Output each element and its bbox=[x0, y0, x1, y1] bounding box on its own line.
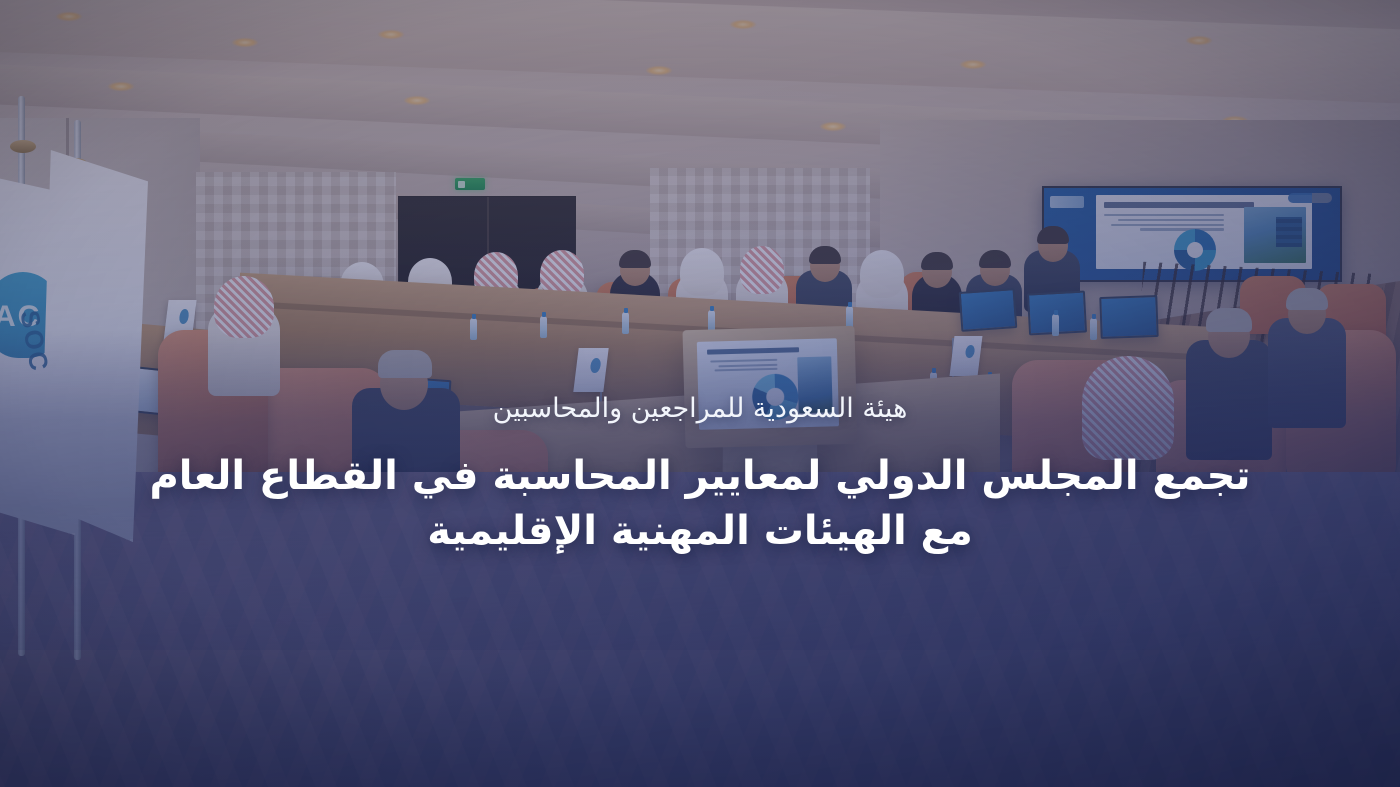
headline-line-2: مع الهيئات المهنية الإقليمية bbox=[80, 504, 1320, 559]
banner-eyebrow: هيئة السعودية للمراجعين والمحاسبين bbox=[80, 392, 1320, 427]
hero-banner: AC SOC هيئة السعودية للمراجعين والمحاسبي… bbox=[0, 0, 1400, 787]
banner-headline: تجمع المجلس الدولي لمعايير المحاسبة في ا… bbox=[80, 449, 1320, 559]
headline-line-1: تجمع المجلس الدولي لمعايير المحاسبة في ا… bbox=[80, 449, 1320, 504]
banner-text-block: هيئة السعودية للمراجعين والمحاسبين تجمع … bbox=[0, 392, 1400, 559]
